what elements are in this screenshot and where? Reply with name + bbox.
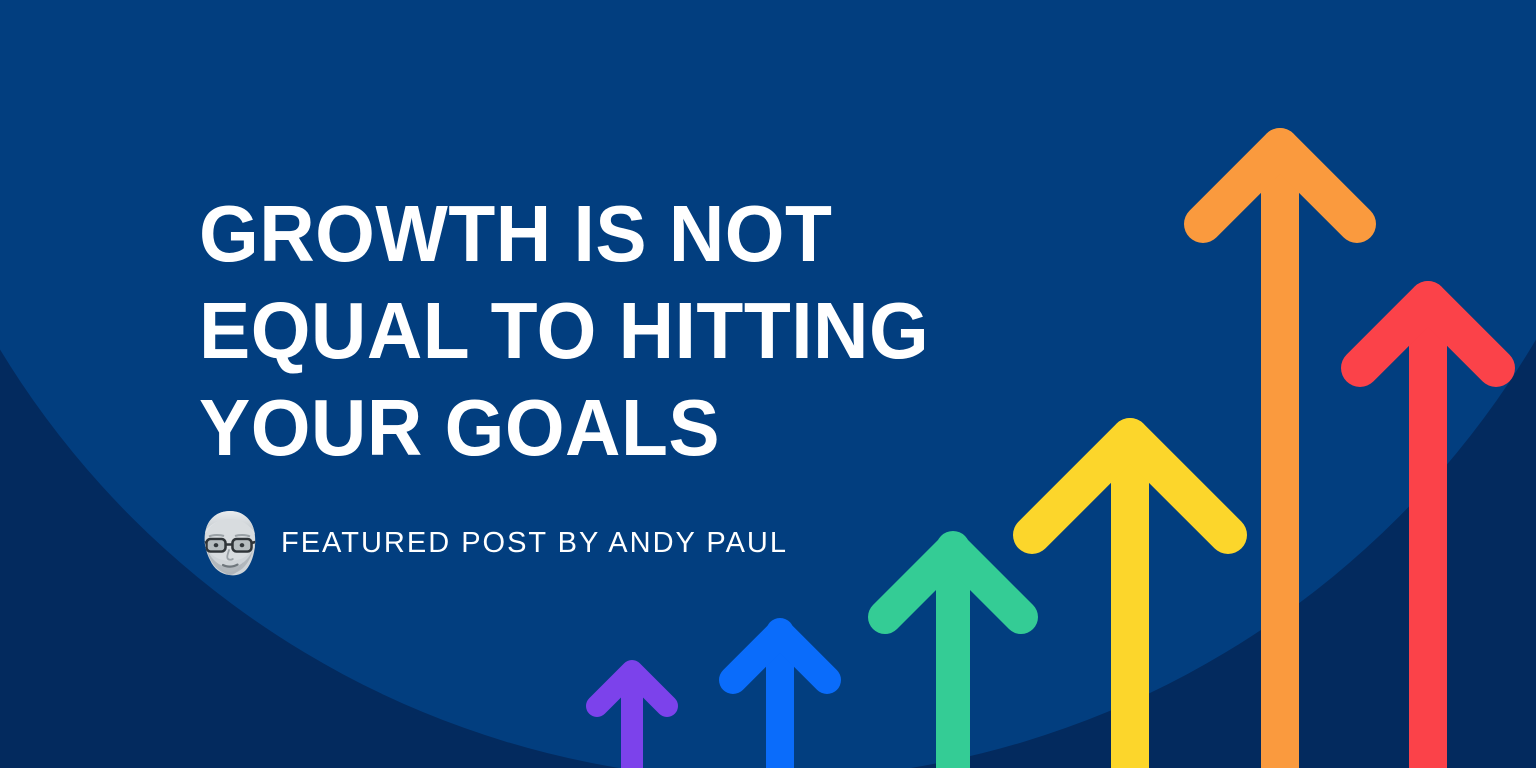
arrow-purple [597,671,667,768]
arrow-red [1360,300,1496,768]
arrow-green [885,548,1021,768]
arrow-orange [1203,147,1357,768]
byline: FEATURED POST BY ANDY PAUL [199,510,1099,576]
page-title: GROWTH IS NOT EQUAL TO HITTING YOUR GOAL… [199,185,1063,476]
byline-label: FEATURED POST BY ANDY PAUL [281,529,788,558]
avatar [199,510,261,576]
arrow-blue [733,632,827,768]
text-content-block: GROWTH IS NOT EQUAL TO HITTING YOUR GOAL… [199,185,1099,576]
featured-post-banner: GROWTH IS NOT EQUAL TO HITTING YOUR GOAL… [0,0,1536,768]
